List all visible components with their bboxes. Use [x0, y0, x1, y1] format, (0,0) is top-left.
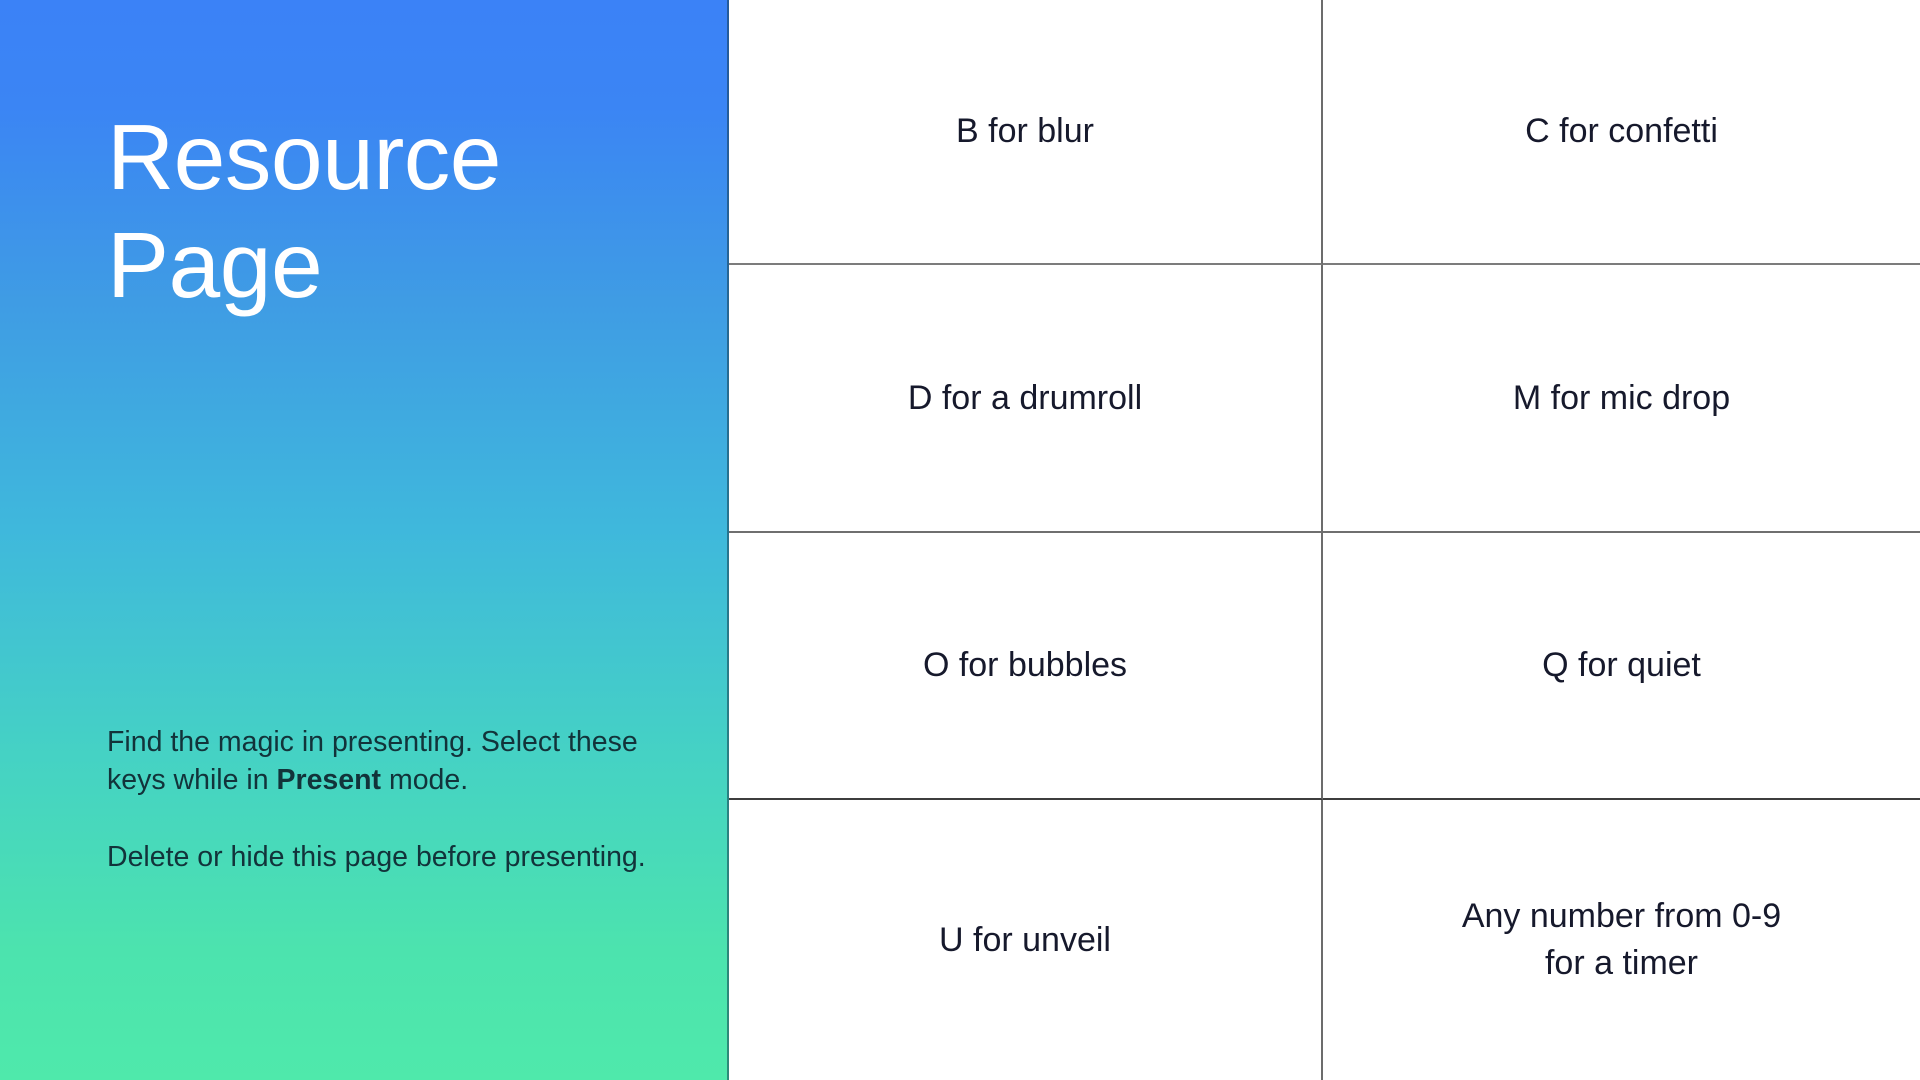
- page-title: Resource Page: [107, 104, 667, 320]
- key-cell-timer[interactable]: Any number from 0-9 for a timer: [1323, 800, 1920, 1080]
- instruction-paragraph-1: Find the magic in presenting. Select the…: [107, 723, 647, 800]
- key-cell-mic-drop[interactable]: M for mic drop: [1323, 265, 1920, 533]
- instruction-paragraph-2: Delete or hide this page before presenti…: [107, 838, 647, 876]
- key-cell-drumroll[interactable]: D for a drumroll: [729, 265, 1323, 533]
- key-cell-confetti[interactable]: C for confetti: [1323, 0, 1920, 265]
- left-panel-content: Resource Page Find the magic in presenti…: [0, 0, 729, 1080]
- key-cell-quiet[interactable]: Q for quiet: [1323, 533, 1920, 800]
- instruction-present-keyword: Present: [276, 764, 381, 796]
- instruction-paragraph-1-tail: mode.: [381, 764, 468, 796]
- key-cell-bubbles[interactable]: O for bubbles: [729, 533, 1323, 800]
- shortcut-key-grid: B for blur C for confetti D for a drumro…: [729, 0, 1920, 1080]
- resource-page-slide: Resource Page Find the magic in presenti…: [0, 0, 1920, 1080]
- key-cell-unveil[interactable]: U for unveil: [729, 800, 1323, 1080]
- left-gradient-panel: Resource Page Find the magic in presenti…: [0, 0, 729, 1080]
- instructions-block: Find the magic in presenting. Select the…: [107, 723, 647, 876]
- key-cell-blur[interactable]: B for blur: [729, 0, 1323, 265]
